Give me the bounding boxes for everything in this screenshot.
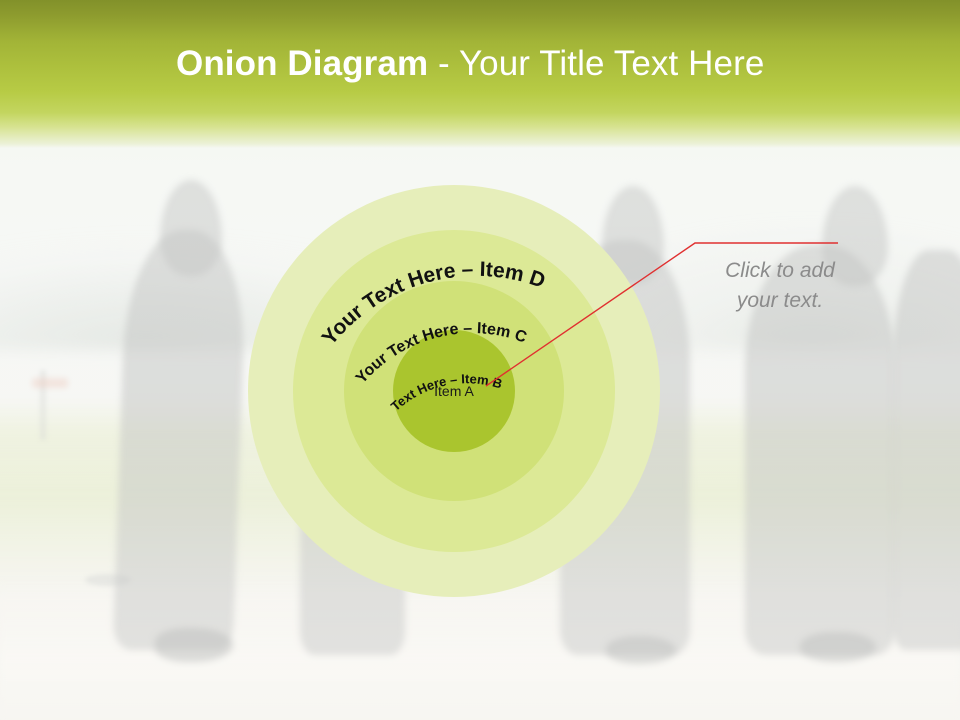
callout-line-1: Click to add <box>690 256 870 286</box>
slide-canvas: Onion Diagram - Your Title Text Here You… <box>0 0 960 720</box>
onion-label-item-a: Item A <box>393 330 515 452</box>
background-figure-1-foot <box>155 628 233 662</box>
background-figure-4-foot <box>800 632 876 662</box>
background-figure-3-foot <box>606 636 676 664</box>
background-red-roof <box>32 378 68 388</box>
page-title-bold: Onion Diagram <box>176 44 428 83</box>
page-title[interactable]: Onion Diagram - Your Title Text Here <box>176 44 764 84</box>
background-figure-1 <box>113 230 248 650</box>
callout-placeholder-text[interactable]: Click to add your text. <box>690 256 870 316</box>
background-figure-5 <box>893 250 960 650</box>
callout-line-2: your text. <box>690 286 870 316</box>
page-title-rest: - Your Title Text Here <box>428 44 764 83</box>
onion-diagram: Your Text Here – Item D Your Text Here –… <box>248 185 660 597</box>
